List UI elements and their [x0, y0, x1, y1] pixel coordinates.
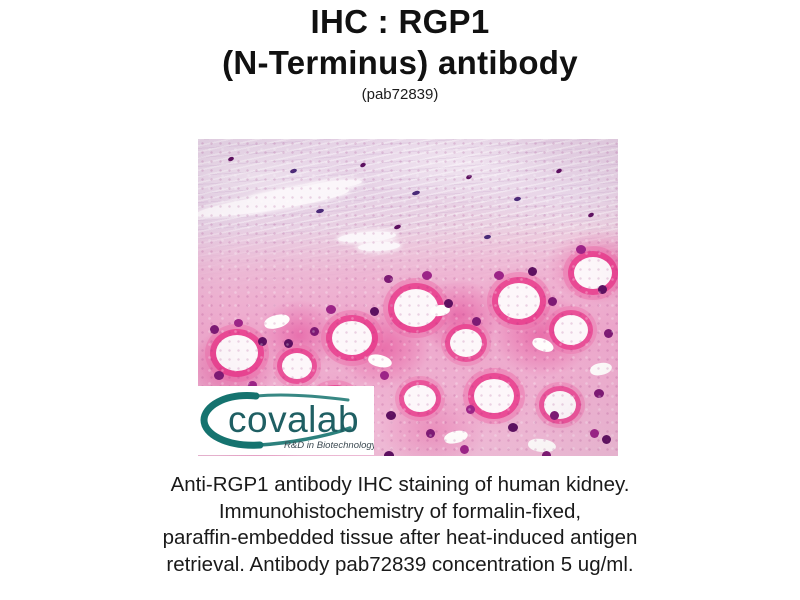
caption-line: Immunohistochemistry of formalin-fixed, — [60, 499, 740, 526]
covalab-logo-mark: covalab R&D in Biotechnology — [198, 386, 374, 455]
page-title: IHC : RGP1 (N-Terminus) antibody (pab728… — [0, 2, 800, 105]
caption-line: paraffin-embedded tissue after heat-indu… — [60, 525, 740, 552]
title-line-secondary: (N-Terminus) antibody — [0, 42, 800, 84]
covalab-tagline: R&D in Biotechnology — [284, 440, 374, 451]
caption-line: retrieval. Antibody pab72839 concentrati… — [60, 552, 740, 579]
covalab-wordmark: covalab — [228, 399, 359, 440]
covalab-logo: covalab R&D in Biotechnology — [198, 386, 374, 455]
catalog-code: (pab72839) — [0, 85, 800, 105]
figure-caption: Anti-RGP1 antibody IHC staining of human… — [60, 472, 740, 578]
title-line-primary: IHC : RGP1 — [0, 2, 800, 42]
figure-page: IHC : RGP1 (N-Terminus) antibody (pab728… — [0, 0, 800, 600]
caption-line: Anti-RGP1 antibody IHC staining of human… — [60, 472, 740, 499]
ihc-micrograph-image: covalab R&D in Biotechnology — [198, 139, 618, 456]
